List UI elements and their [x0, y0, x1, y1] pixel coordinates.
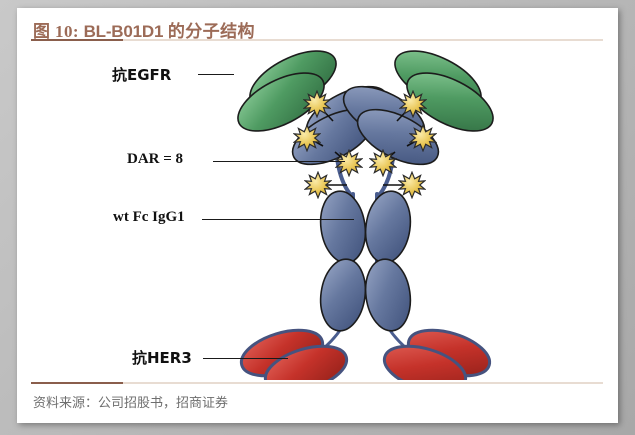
label-anti-her3-text: 抗HER3: [132, 349, 192, 367]
label-anti-her3: 抗HER3: [132, 347, 192, 368]
fc-region: [316, 188, 415, 333]
molecular-structure-diagram: [17, 42, 618, 380]
leader-line-anti-her3: [203, 358, 288, 359]
label-wt-fc-igg1-text: wt Fc IgG1: [113, 209, 185, 225]
leader-line-wt-fc: [202, 219, 354, 220]
label-wt-fc-igg1: wt Fc IgG1: [113, 209, 185, 226]
label-dar-text: DAR = 8: [127, 151, 183, 167]
figure-card: 图 10: BL-B01D1 的分子结构: [17, 8, 618, 423]
label-dar: DAR = 8: [127, 151, 183, 168]
fc-ch3-right: [361, 256, 415, 333]
red-fab-domains: [236, 322, 495, 380]
title-divider: [31, 39, 603, 41]
fc-ch2-left: [316, 188, 370, 265]
label-anti-egfr-text: 抗EGFR: [112, 66, 171, 84]
label-anti-egfr: 抗EGFR: [112, 64, 171, 85]
leader-line-dar: [213, 161, 345, 162]
fc-ch2-right: [361, 188, 415, 265]
leader-line-anti-egfr: [198, 74, 234, 75]
payload-starburst: [336, 150, 362, 176]
source-divider: [31, 382, 603, 384]
fc-ch3-left: [316, 256, 370, 333]
source-note: 资料来源：公司招股书，招商证券: [33, 392, 228, 411]
